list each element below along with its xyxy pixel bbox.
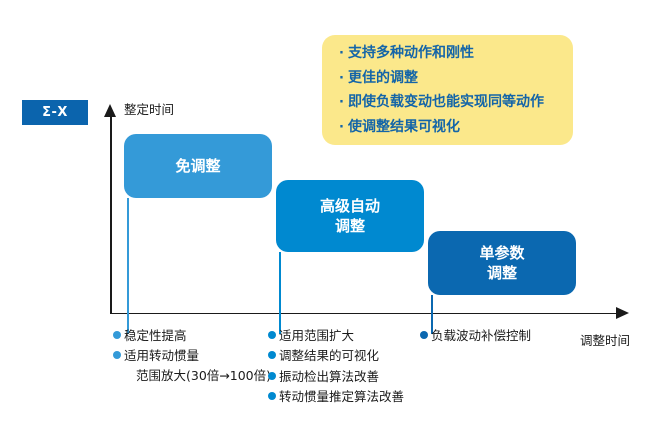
benefit-group-1: 稳定性提高 适用转动惯量 范围放大(30倍→100倍): [113, 326, 271, 386]
list-item-label: 适用范围扩大: [279, 328, 354, 343]
bullet-dot-icon: [268, 372, 276, 380]
callout-item-label: 即使负载变动也能实现同等动作: [348, 95, 544, 109]
list-item: 适用范围扩大: [268, 326, 404, 345]
callout-item-label: 更佳的调整: [348, 71, 418, 85]
bullet-dot-icon: ·: [339, 47, 344, 60]
list-item-label: 振动检出算法改善: [279, 369, 379, 384]
list-item: 转动惯量推定算法改善: [268, 387, 404, 406]
list-item: 振动检出算法改善: [268, 367, 404, 386]
x-axis-line: [110, 313, 619, 315]
benefit-group-3: 负载波动补偿控制: [420, 326, 531, 346]
list-item: 稳定性提高: [113, 326, 271, 345]
list-item: 适用转动惯量 范围放大(30倍→100倍): [113, 346, 271, 385]
x-axis-label: 调整时间: [580, 330, 630, 349]
bullet-dot-icon: ·: [339, 121, 344, 134]
callout-item: · 支持多种动作和刚性: [339, 46, 573, 60]
step-box-advanced-autotuning: 高级自动 调整: [276, 180, 424, 252]
callout-item: · 使调整结果可视化: [339, 120, 573, 134]
list-item-label: 负载波动补偿控制: [431, 328, 531, 343]
callout-item-label: 使调整结果可视化: [348, 120, 460, 134]
connector-line-2: [279, 252, 281, 334]
feature-callout: · 支持多种动作和刚性 · 更佳的调整 · 即使负载变动也能实现同等动作 · 使…: [322, 35, 573, 145]
diagram-canvas: Σ-X 整定时间 调整时间 免调整 高级自动 调整 单参数 调整 · 支持多种动…: [0, 0, 655, 427]
y-axis-arrowhead-icon: [104, 104, 116, 117]
y-axis-label: 整定时间: [124, 99, 174, 118]
list-item: 调整结果的可视化: [268, 346, 404, 365]
benefit-group-2: 适用范围扩大 调整结果的可视化 振动检出算法改善 转动惯量推定算法改善: [268, 326, 404, 408]
bullet-dot-icon: [113, 331, 121, 339]
bullet-dot-icon: [113, 351, 121, 359]
bullet-dot-icon: ·: [339, 96, 344, 109]
callout-item: · 更佳的调整: [339, 71, 573, 85]
list-item-label: 稳定性提高: [124, 328, 187, 343]
sigma-x-badge: Σ-X: [22, 100, 88, 125]
list-item-label: 转动惯量推定算法改善: [279, 389, 404, 404]
bullet-dot-icon: [268, 392, 276, 400]
list-item: 负载波动补偿控制: [420, 326, 531, 345]
list-item-label: 适用转动惯量: [124, 348, 199, 363]
bullet-dot-icon: [268, 351, 276, 359]
step-box-one-parameter-tuning: 单参数 调整: [428, 231, 576, 295]
y-axis-line: [110, 112, 112, 314]
list-item-label: 调整结果的可视化: [279, 348, 379, 363]
bullet-dot-icon: ·: [339, 72, 344, 85]
x-axis-arrowhead-icon: [616, 307, 629, 319]
callout-item: · 即使负载变动也能实现同等动作: [339, 95, 573, 109]
bullet-dot-icon: [420, 331, 428, 339]
bullet-dot-icon: [268, 331, 276, 339]
sigma-x-badge-label: Σ-X: [42, 105, 68, 120]
step-box-tuningless: 免调整: [124, 134, 272, 198]
callout-item-label: 支持多种动作和刚性: [348, 46, 474, 60]
connector-line-1: [127, 198, 129, 334]
list-item-label-continuation: 范围放大(30倍→100倍): [124, 366, 271, 385]
